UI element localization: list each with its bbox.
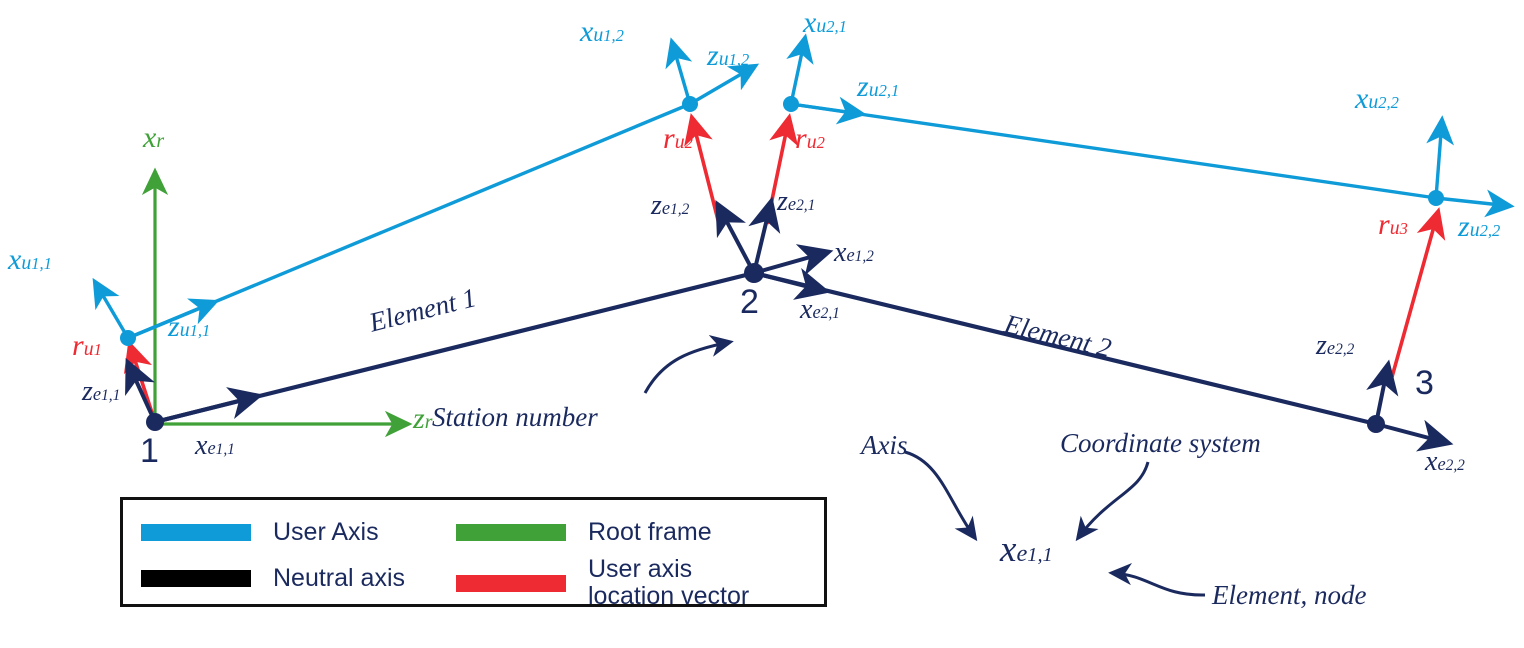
label-xe11: xe1,1 (195, 432, 235, 460)
station-1-number: 1 (140, 434, 159, 468)
callout-coordinate-system: Coordinate system (1060, 430, 1261, 457)
legend-item-user-axis: User Axis (141, 519, 379, 546)
station-2-dot (744, 263, 764, 283)
user-axis-2-line (791, 104, 1436, 198)
label-xu12: xu1,2 (580, 17, 624, 47)
label-ze21: ze2,1 (777, 188, 815, 216)
legend-label-location-vector: User axis location vector (588, 556, 749, 610)
label-ze22: ze2,2 (1316, 332, 1354, 360)
user-axis-beam (128, 104, 1436, 338)
axis-ze22-arrow (1376, 365, 1388, 424)
axis-xe12-arrow (754, 252, 828, 273)
label-ru2-left: ru2 (663, 124, 693, 154)
label-ru3: ru3 (1378, 210, 1408, 240)
node-1-frames (95, 282, 258, 431)
label-zu11: zu1,1 (168, 312, 210, 342)
axis-ze21-arrow (754, 202, 771, 273)
callout-sample-symbol: xe1,1 (1000, 531, 1053, 568)
user-node-12-dot (682, 96, 698, 112)
label-xe21: xe2,1 (800, 296, 840, 324)
node-3-frames (1367, 120, 1510, 443)
label-xe22: xe2,2 (1425, 448, 1465, 476)
user-node-21-dot (783, 96, 799, 112)
label-zu22: zu2,2 (1458, 212, 1500, 242)
station-3-dot (1367, 415, 1385, 433)
legend-swatch-neutral-axis (141, 570, 251, 587)
legend-swatch-user-axis (141, 524, 251, 541)
axis-xe11-arrow (155, 396, 258, 422)
axis-xe22-arrow (1376, 424, 1448, 443)
axis-zu12-arrow (690, 66, 755, 104)
user-node-22-dot (1428, 190, 1444, 206)
label-ru1: ru1 (72, 331, 102, 361)
label-ru2-right: ru2 (795, 124, 825, 154)
axis-ze11-arrow (128, 363, 155, 422)
diagram-canvas: xr zr xu1,1 zu1,1 ru1 ze1,1 xe1,1 1 xu1,… (0, 0, 1524, 648)
station-number-leader (645, 342, 730, 393)
label-xu11: xu1,1 (8, 245, 52, 275)
element-node-leader (1112, 573, 1205, 595)
legend-swatch-location-vector (456, 575, 566, 592)
legend-item-location-vector: User axis location vector (456, 556, 749, 610)
legend-swatch-root-frame (456, 524, 566, 541)
legend-label-neutral-axis: Neutral axis (273, 565, 405, 592)
root-frame-axes (155, 172, 408, 424)
station-2-number: 2 (740, 285, 759, 319)
location-vector-ru2-left-arrow (692, 118, 719, 224)
station-1-dot (146, 413, 164, 431)
axis-zu22-arrow (1436, 198, 1510, 206)
user-node-1-dot (120, 330, 136, 346)
label-root-frame-z: zr (413, 404, 432, 434)
legend-label-user-axis: User Axis (273, 519, 379, 546)
legend-box: User Axis Neutral axis Root frame User a… (120, 497, 827, 607)
label-ze11: ze1,1 (82, 378, 120, 406)
axis-ze12-arrow (718, 205, 754, 273)
legend-item-root-frame: Root frame (456, 519, 712, 546)
axis-xu22-arrow (1436, 120, 1442, 198)
label-xu21: xu2,1 (803, 8, 847, 38)
axis-xu11-arrow (95, 282, 128, 338)
callout-axis: Axis (861, 432, 908, 459)
label-root-frame-x: xr (143, 123, 164, 153)
axis-xu21-arrow (791, 38, 805, 104)
label-zu21: zu2,1 (857, 72, 899, 102)
callout-element-node: Element, node (1212, 582, 1366, 609)
label-xu22: xu2,2 (1355, 84, 1399, 114)
axis-xu12-arrow (672, 42, 690, 104)
axis-leader (905, 452, 975, 538)
legend-item-neutral-axis: Neutral axis (141, 565, 405, 592)
label-ze12: ze1,2 (651, 192, 689, 220)
station-3-number: 3 (1415, 366, 1434, 400)
label-xe12: xe1,2 (834, 239, 874, 267)
axis-zu21-arrow (791, 104, 862, 114)
axis-xe21-arrow (754, 273, 825, 291)
neutral-axis-beam (155, 273, 1376, 424)
coordinate-system-leader (1078, 462, 1148, 538)
label-zu12: zu1,2 (707, 41, 749, 71)
legend-label-root-frame: Root frame (588, 519, 712, 546)
callout-station-number: Station number (432, 404, 598, 431)
